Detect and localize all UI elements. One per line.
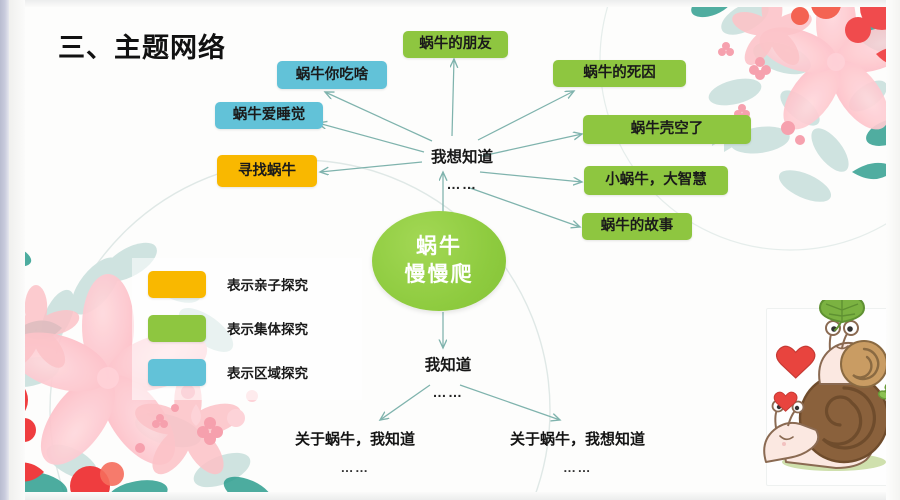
leaf-about-snails-i-know-label: 关于蜗牛，我知道 bbox=[295, 431, 415, 448]
presentation-slide: 三、主题网络 蜗牛的朋友 蜗牛你吃啥 蜗牛爱睡觉 寻找蜗牛 蜗牛的死因 蜗牛壳空… bbox=[0, 0, 900, 500]
node-find-the-snail[interactable]: 寻找蜗牛 bbox=[217, 155, 317, 187]
leaf-about-snails-i-want-to-know-label: 关于蜗牛，我想知道 bbox=[510, 431, 645, 448]
slide-edge-left bbox=[0, 0, 9, 500]
node-what-do-snails-eat[interactable]: 蜗牛你吃啥 bbox=[277, 61, 387, 89]
slide-edge-right bbox=[886, 0, 900, 500]
node-empty-snail-shell[interactable]: 蜗牛壳空了 bbox=[583, 115, 751, 144]
legend-swatch-orange bbox=[148, 271, 206, 298]
legend-item-group: 表示集体探究 bbox=[148, 313, 308, 343]
node-snail-friends[interactable]: 蜗牛的朋友 bbox=[403, 31, 508, 58]
leaf-about-snails-i-know: 关于蜗牛，我知道 …… bbox=[280, 428, 430, 475]
legend-label-parent-child: 表示亲子探究 bbox=[227, 274, 308, 294]
hub-i-know-label: 我知道 bbox=[425, 357, 472, 374]
legend-item-parent-child: 表示亲子探究 bbox=[148, 269, 308, 299]
hub-i-know: 我知道 …… bbox=[403, 353, 493, 400]
legend: 表示亲子探究 表示集体探究 表示区域探究 bbox=[148, 269, 308, 401]
slide-edge-left-inner bbox=[9, 0, 25, 500]
legend-item-area: 表示区域探究 bbox=[148, 357, 308, 387]
legend-label-group: 表示集体探究 bbox=[227, 318, 308, 338]
node-little-snail-big-wisdom[interactable]: 小蜗牛，大智慧 bbox=[584, 166, 728, 195]
slide-edge-bottom bbox=[0, 492, 900, 500]
slide-edge-top bbox=[0, 0, 900, 7]
two-snails-illustration bbox=[760, 300, 896, 486]
legend-swatch-blue bbox=[148, 359, 206, 386]
hub-i-want-to-know: 我想知道 …… bbox=[412, 145, 512, 192]
node-snails-love-sleeping[interactable]: 蜗牛爱睡觉 bbox=[215, 102, 323, 129]
page-title: 三、主题网络 bbox=[58, 26, 226, 65]
center-topic-node[interactable]: 蜗牛 慢慢爬 bbox=[372, 211, 506, 311]
node-cause-of-snail-death[interactable]: 蜗牛的死因 bbox=[553, 60, 686, 87]
leaf-about-snails-i-know-dots: …… bbox=[280, 460, 430, 475]
node-snail-story[interactable]: 蜗牛的故事 bbox=[582, 213, 692, 240]
legend-swatch-green bbox=[148, 315, 206, 342]
leaf-about-snails-i-want-to-know: 关于蜗牛，我想知道 …… bbox=[495, 428, 660, 475]
center-topic-line-2: 慢慢爬 bbox=[405, 261, 474, 289]
hub-i-want-to-know-label: 我想知道 bbox=[431, 149, 493, 166]
legend-label-area: 表示区域探究 bbox=[227, 362, 308, 382]
leaf-about-snails-i-want-to-know-dots: …… bbox=[495, 460, 660, 475]
hub-i-know-dots: …… bbox=[403, 384, 493, 400]
hub-i-want-to-know-dots: …… bbox=[412, 176, 512, 192]
center-topic-line-1: 蜗牛 bbox=[416, 233, 462, 261]
